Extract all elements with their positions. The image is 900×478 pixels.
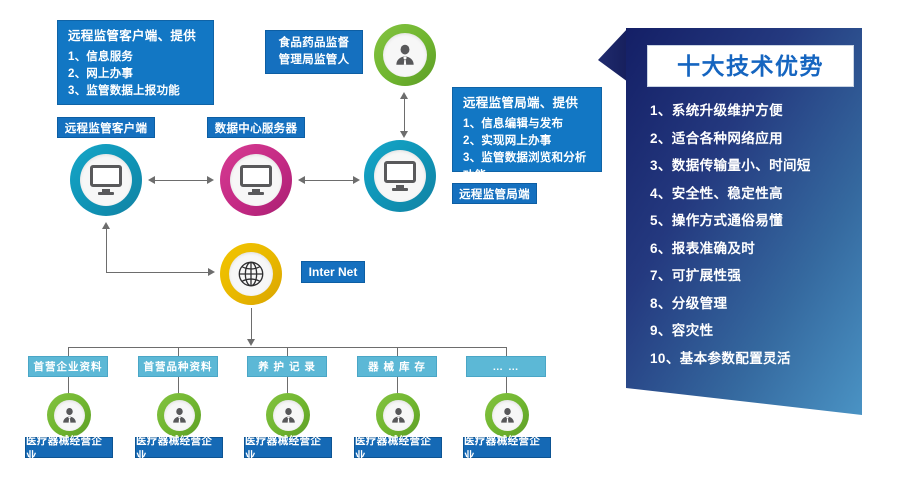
connector-internet-client-horizontal bbox=[106, 272, 212, 273]
data-center-tag-label: 数据中心服务器 bbox=[215, 120, 298, 136]
arrow-right-datacenter-bureau bbox=[353, 176, 360, 184]
internet-tag-label: Inter Net bbox=[309, 265, 358, 279]
person-icon bbox=[60, 406, 79, 425]
banner-advantage-item-0: 1、系统升级维护方便 bbox=[650, 104, 890, 118]
banner-advantage-item-9: 10、基本参数配置灵活 bbox=[650, 352, 890, 366]
internet-node[interactable] bbox=[220, 243, 282, 305]
client-info-line-3: 3、监管数据上报功能 bbox=[68, 83, 203, 100]
arrow-right-client-datacenter bbox=[207, 176, 214, 184]
supervisor-tag-line-2: 管理局监管人 bbox=[279, 52, 350, 69]
person-icon bbox=[389, 406, 408, 425]
supervisor-ring-inner bbox=[383, 33, 427, 77]
bureau-node-tag-label: 远程监管局端 bbox=[459, 186, 530, 202]
enterprise-node-0[interactable] bbox=[47, 393, 91, 437]
enterprise-tag-label-2: 医疗器械经营企业 bbox=[245, 433, 331, 463]
data-center-tag: 数据中心服务器 bbox=[207, 117, 305, 138]
client-info-line-1: 1、信息服务 bbox=[68, 49, 203, 66]
client-ring bbox=[70, 144, 142, 216]
client-node-tag: 远程监管客户端 bbox=[57, 117, 155, 138]
enterprise-tag-label-3: 医疗器械经营企业 bbox=[355, 433, 441, 463]
banner-advantage-item-1: 2、适合各种网络应用 bbox=[650, 132, 890, 146]
bureau-ring bbox=[364, 140, 436, 212]
arrow-left-client-datacenter bbox=[148, 176, 155, 184]
enterprise-tag-label-1: 医疗器械经营企业 bbox=[136, 433, 222, 463]
connector-internet-client-vertical bbox=[106, 228, 107, 272]
client-info-title: 远程监管客户端、提供 bbox=[68, 28, 203, 45]
bureau-node[interactable] bbox=[364, 140, 436, 212]
internet-ring-inner bbox=[229, 252, 273, 296]
person-icon bbox=[498, 406, 517, 425]
enterprise-ring-4 bbox=[485, 393, 529, 437]
banner-content: 十大技术优势 1、系统升级维护方便 2、适合各种网络应用 3、数据传输量小、时间… bbox=[598, 20, 900, 440]
category-tag-label-0: 首营企业资料 bbox=[34, 359, 103, 374]
data-center-node[interactable] bbox=[220, 144, 292, 216]
internet-ring bbox=[220, 243, 282, 305]
arrow-down-bureau bbox=[400, 131, 408, 138]
banner-title-box: 十大技术优势 bbox=[647, 45, 854, 87]
category-tag-label-3: 器 械 库 存 bbox=[368, 359, 426, 374]
connector-supervisor-bureau bbox=[404, 94, 405, 136]
category-tag-label-4: … … bbox=[493, 361, 520, 373]
enterprise-tag-4[interactable]: 医疗器械经营企业 bbox=[463, 437, 551, 458]
category-tag-0[interactable]: 首营企业资料 bbox=[28, 356, 108, 377]
enterprise-ring-1 bbox=[157, 393, 201, 437]
enterprise-ring-inner-1 bbox=[164, 400, 195, 431]
category-tag-4[interactable]: … … bbox=[466, 356, 546, 377]
person-icon bbox=[279, 406, 298, 425]
client-node[interactable] bbox=[70, 144, 142, 216]
client-info-panel: 远程监管客户端、提供 1、信息服务 2、网上办事 3、监管数据上报功能 bbox=[57, 20, 214, 105]
person-icon bbox=[392, 42, 418, 68]
enterprise-ring-inner-3 bbox=[383, 400, 414, 431]
client-info-line-2: 2、网上办事 bbox=[68, 66, 203, 83]
category-tag-label-2: 养 护 记 录 bbox=[258, 359, 316, 374]
enterprise-tag-label-4: 医疗器械经营企业 bbox=[464, 433, 550, 463]
advantages-banner: 十大技术优势 1、系统升级维护方便 2、适合各种网络应用 3、数据传输量小、时间… bbox=[598, 20, 900, 440]
banner-advantage-item-7: 8、分级管理 bbox=[650, 297, 890, 311]
enterprise-tag-0[interactable]: 医疗器械经营企业 bbox=[25, 437, 113, 458]
connector-client-datacenter bbox=[150, 180, 212, 181]
enterprise-ring-0 bbox=[47, 393, 91, 437]
arrow-up-supervisor bbox=[400, 92, 408, 99]
connector-datacenter-bureau bbox=[300, 180, 358, 181]
enterprise-tag-3[interactable]: 医疗器械经营企业 bbox=[354, 437, 442, 458]
banner-advantage-list: 1、系统升级维护方便 2、适合各种网络应用 3、数据传输量小、时间短 4、安全性… bbox=[650, 104, 890, 379]
banner-title: 十大技术优势 bbox=[677, 55, 824, 78]
monitor-icon bbox=[90, 165, 122, 195]
arrow-left-datacenter-bureau bbox=[298, 176, 305, 184]
internet-tag: Inter Net bbox=[301, 261, 365, 283]
globe-icon bbox=[236, 259, 266, 289]
arrow-up-client bbox=[102, 222, 110, 229]
enterprise-ring-inner-2 bbox=[273, 400, 304, 431]
banner-advantage-item-5: 6、报表准确及时 bbox=[650, 242, 890, 256]
banner-advantage-item-8: 9、容灾性 bbox=[650, 324, 890, 338]
enterprise-node-2[interactable] bbox=[266, 393, 310, 437]
data-center-ring-inner bbox=[230, 154, 282, 206]
monitor-icon bbox=[384, 161, 416, 191]
enterprise-tag-2[interactable]: 医疗器械经营企业 bbox=[244, 437, 332, 458]
data-center-ring bbox=[220, 144, 292, 216]
arrow-right-internet bbox=[208, 268, 215, 276]
enterprise-ring-inner-0 bbox=[54, 400, 85, 431]
bureau-info-line-3: 3、监管数据浏览和分析功能 bbox=[463, 150, 591, 185]
enterprise-node-4[interactable] bbox=[485, 393, 529, 437]
supervisor-node[interactable] bbox=[374, 24, 436, 86]
bureau-info-line-1: 1、信息编辑与发布 bbox=[463, 116, 591, 133]
bureau-node-tag: 远程监管局端 bbox=[452, 183, 537, 204]
banner-advantage-item-4: 5、操作方式通俗易懂 bbox=[650, 214, 890, 228]
supervisor-ring bbox=[374, 24, 436, 86]
category-tag-3[interactable]: 器 械 库 存 bbox=[357, 356, 437, 377]
supervisor-tag: 食品药品监督 管理局监管人 bbox=[265, 30, 363, 74]
bureau-info-panel: 远程监管局端、提供 1、信息编辑与发布 2、实现网上办事 3、监管数据浏览和分析… bbox=[452, 87, 602, 172]
banner-advantage-item-3: 4、安全性、稳定性高 bbox=[650, 187, 890, 201]
category-tag-label-1: 首营品种资料 bbox=[144, 359, 213, 374]
arrow-down-tree bbox=[247, 339, 255, 346]
enterprise-tag-1[interactable]: 医疗器械经营企业 bbox=[135, 437, 223, 458]
supervisor-tag-line-1: 食品药品监督 bbox=[279, 35, 350, 52]
category-tag-1[interactable]: 首营品种资料 bbox=[138, 356, 218, 377]
bureau-ring-inner bbox=[374, 150, 426, 202]
enterprise-tag-label-0: 医疗器械经营企业 bbox=[26, 433, 112, 463]
client-node-tag-label: 远程监管客户端 bbox=[65, 120, 148, 136]
enterprise-ring-inner-4 bbox=[492, 400, 523, 431]
enterprise-ring-2 bbox=[266, 393, 310, 437]
category-tag-2[interactable]: 养 护 记 录 bbox=[247, 356, 327, 377]
monitor-icon bbox=[240, 165, 272, 195]
bureau-info-title: 远程监管局端、提供 bbox=[463, 95, 591, 112]
bureau-info-line-2: 2、实现网上办事 bbox=[463, 133, 591, 150]
client-ring-inner bbox=[80, 154, 132, 206]
person-icon bbox=[170, 406, 189, 425]
enterprise-ring-3 bbox=[376, 393, 420, 437]
enterprise-node-3[interactable] bbox=[376, 393, 420, 437]
banner-advantage-item-6: 7、可扩展性强 bbox=[650, 269, 890, 283]
enterprise-node-1[interactable] bbox=[157, 393, 201, 437]
banner-advantage-item-2: 3、数据传输量小、时间短 bbox=[650, 159, 890, 173]
